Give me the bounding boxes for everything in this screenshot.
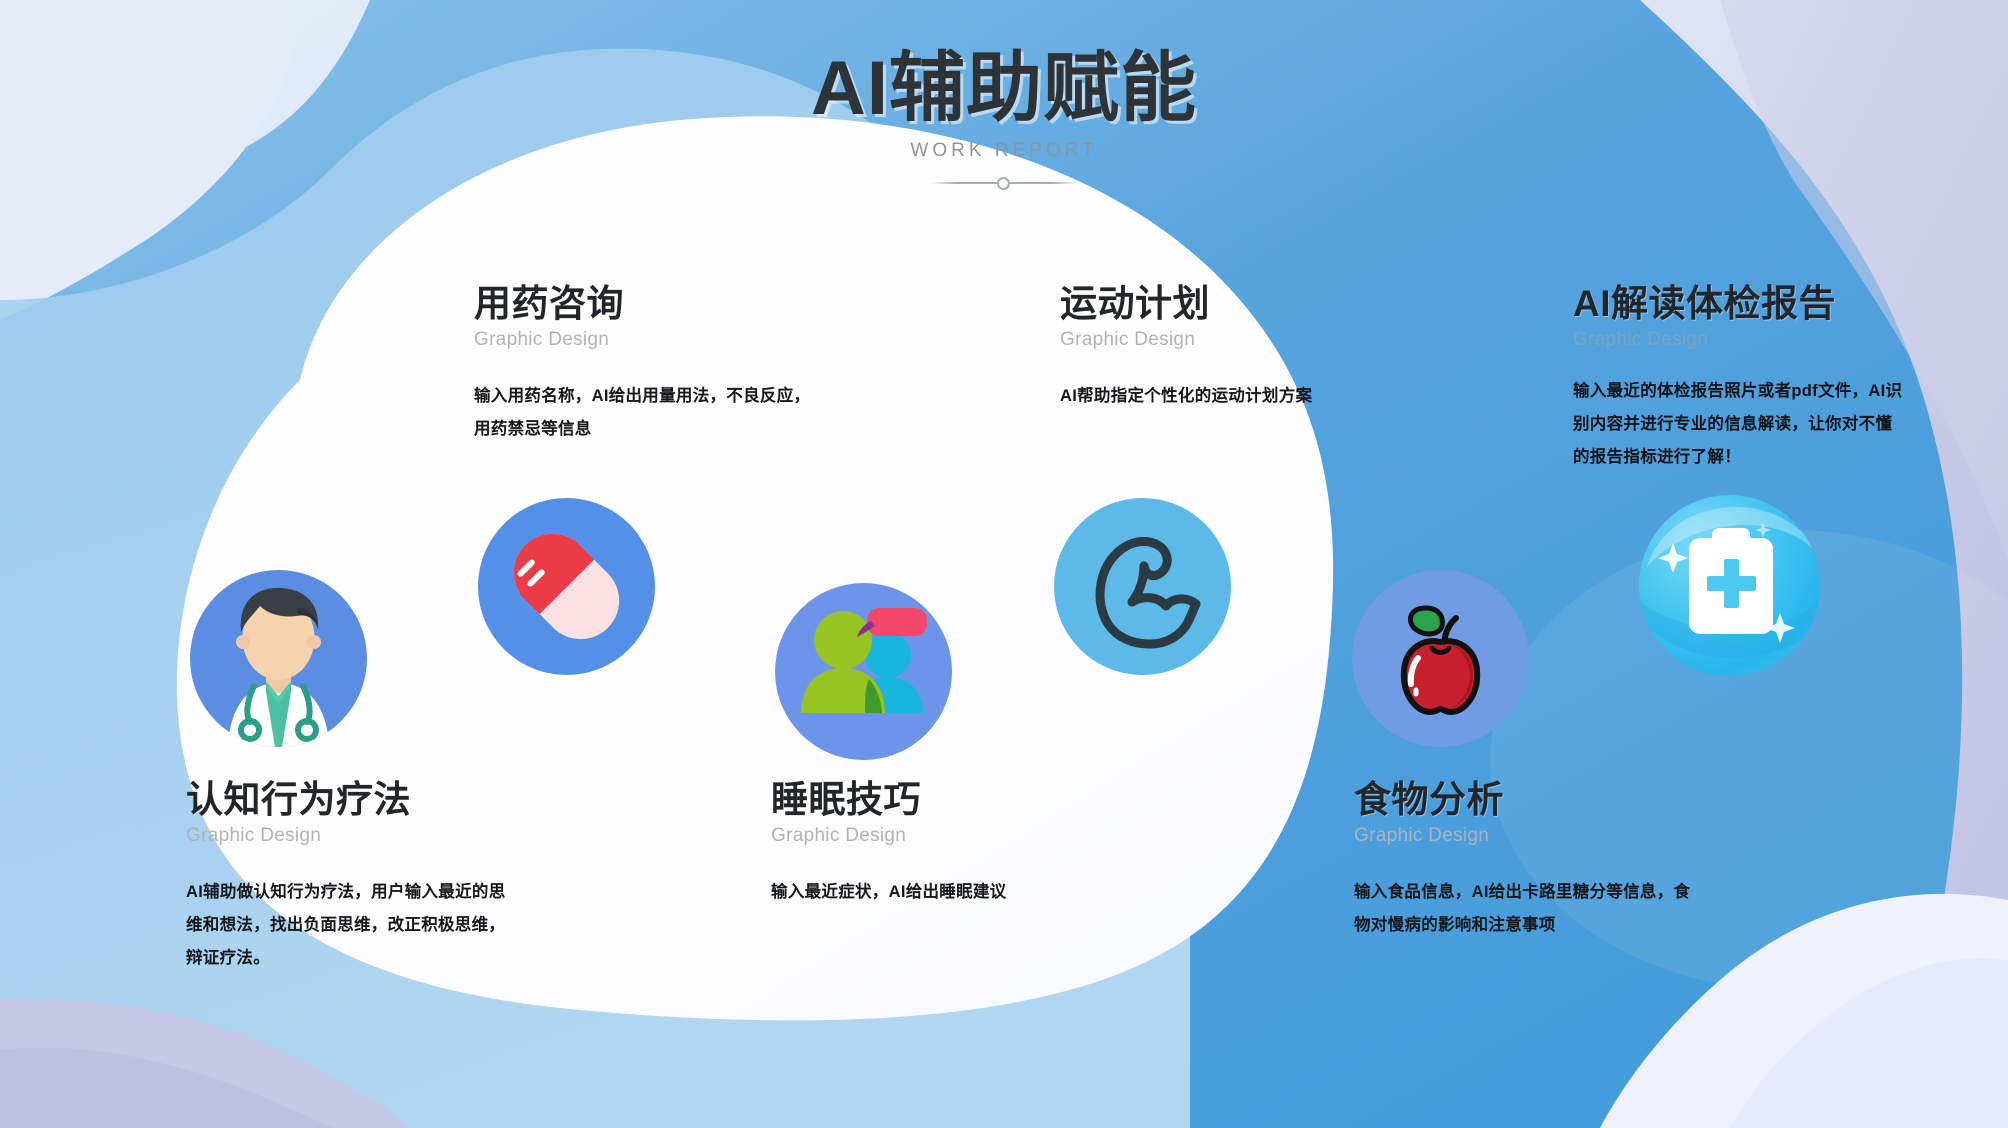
people-chat-icon xyxy=(775,583,952,760)
block-description: 输入最近症状，AI给出睡眠建议 xyxy=(771,876,1091,909)
divider-dot-icon xyxy=(997,177,1010,190)
block-title: 认知行为疗法 xyxy=(186,778,516,822)
apple-icon xyxy=(1352,570,1529,747)
slide-header: AI辅助赋能 WORK REPORT xyxy=(0,48,2008,190)
block-caption: Graphic Design xyxy=(771,825,1091,847)
block-caption: Graphic Design xyxy=(186,825,516,847)
header-divider xyxy=(930,176,1078,190)
block-ai-health-report[interactable]: AI解读体检报告 Graphic Design 输入最近的体检报告照片或者pdf… xyxy=(1573,282,1903,474)
block-caption: Graphic Design xyxy=(1354,825,1694,847)
block-title: 用药咨询 xyxy=(474,282,819,326)
medical-clipboard-icon xyxy=(1639,495,1820,676)
block-caption: Graphic Design xyxy=(1573,329,1903,351)
block-title: 睡眠技巧 xyxy=(771,778,1091,822)
doctor-avatar-icon xyxy=(190,570,367,747)
block-description: 输入用药名称，AI给出用量用法，不良反应，用药禁忌等信息 xyxy=(474,380,819,446)
block-food-analysis[interactable]: 食物分析 Graphic Design 输入食品信息，AI给出卡路里糖分等信息，… xyxy=(1354,778,1694,942)
block-title: AI解读体检报告 xyxy=(1573,282,1903,326)
block-exercise-plan[interactable]: 运动计划 Graphic Design AI帮助指定个性化的运动计划方案 xyxy=(1060,282,1350,413)
page-subtitle: WORK REPORT xyxy=(0,140,2008,162)
page-title: AI辅助赋能 xyxy=(0,48,2008,130)
block-medication-consult[interactable]: 用药咨询 Graphic Design 输入用药名称，AI给出用量用法，不良反应… xyxy=(474,282,819,446)
block-description: 输入食品信息，AI给出卡路里糖分等信息，食物对慢病的影响和注意事项 xyxy=(1354,876,1694,942)
muscle-arm-icon xyxy=(1054,498,1231,675)
block-sleep-tips[interactable]: 睡眠技巧 Graphic Design 输入最近症状，AI给出睡眠建议 xyxy=(771,778,1091,909)
pill-icon xyxy=(478,498,655,675)
slide-root: AI辅助赋能 WORK REPORT 用药咨询 Graphic Design 输… xyxy=(0,0,2008,1128)
block-description: 输入最近的体检报告照片或者pdf文件，AI识别内容并进行专业的信息解读，让你对不… xyxy=(1573,375,1903,474)
block-description: AI帮助指定个性化的运动计划方案 xyxy=(1060,380,1350,413)
block-title: 食物分析 xyxy=(1354,778,1694,822)
block-caption: Graphic Design xyxy=(1060,329,1350,351)
block-title: 运动计划 xyxy=(1060,282,1350,326)
block-cognitive-behavioral-therapy[interactable]: 认知行为疗法 Graphic Design AI辅助做认知行为疗法，用户输入最近… xyxy=(186,778,516,975)
block-description: AI辅助做认知行为疗法，用户输入最近的思维和想法，找出负面思维，改正积极思维，辩… xyxy=(186,876,516,975)
block-caption: Graphic Design xyxy=(474,329,819,351)
